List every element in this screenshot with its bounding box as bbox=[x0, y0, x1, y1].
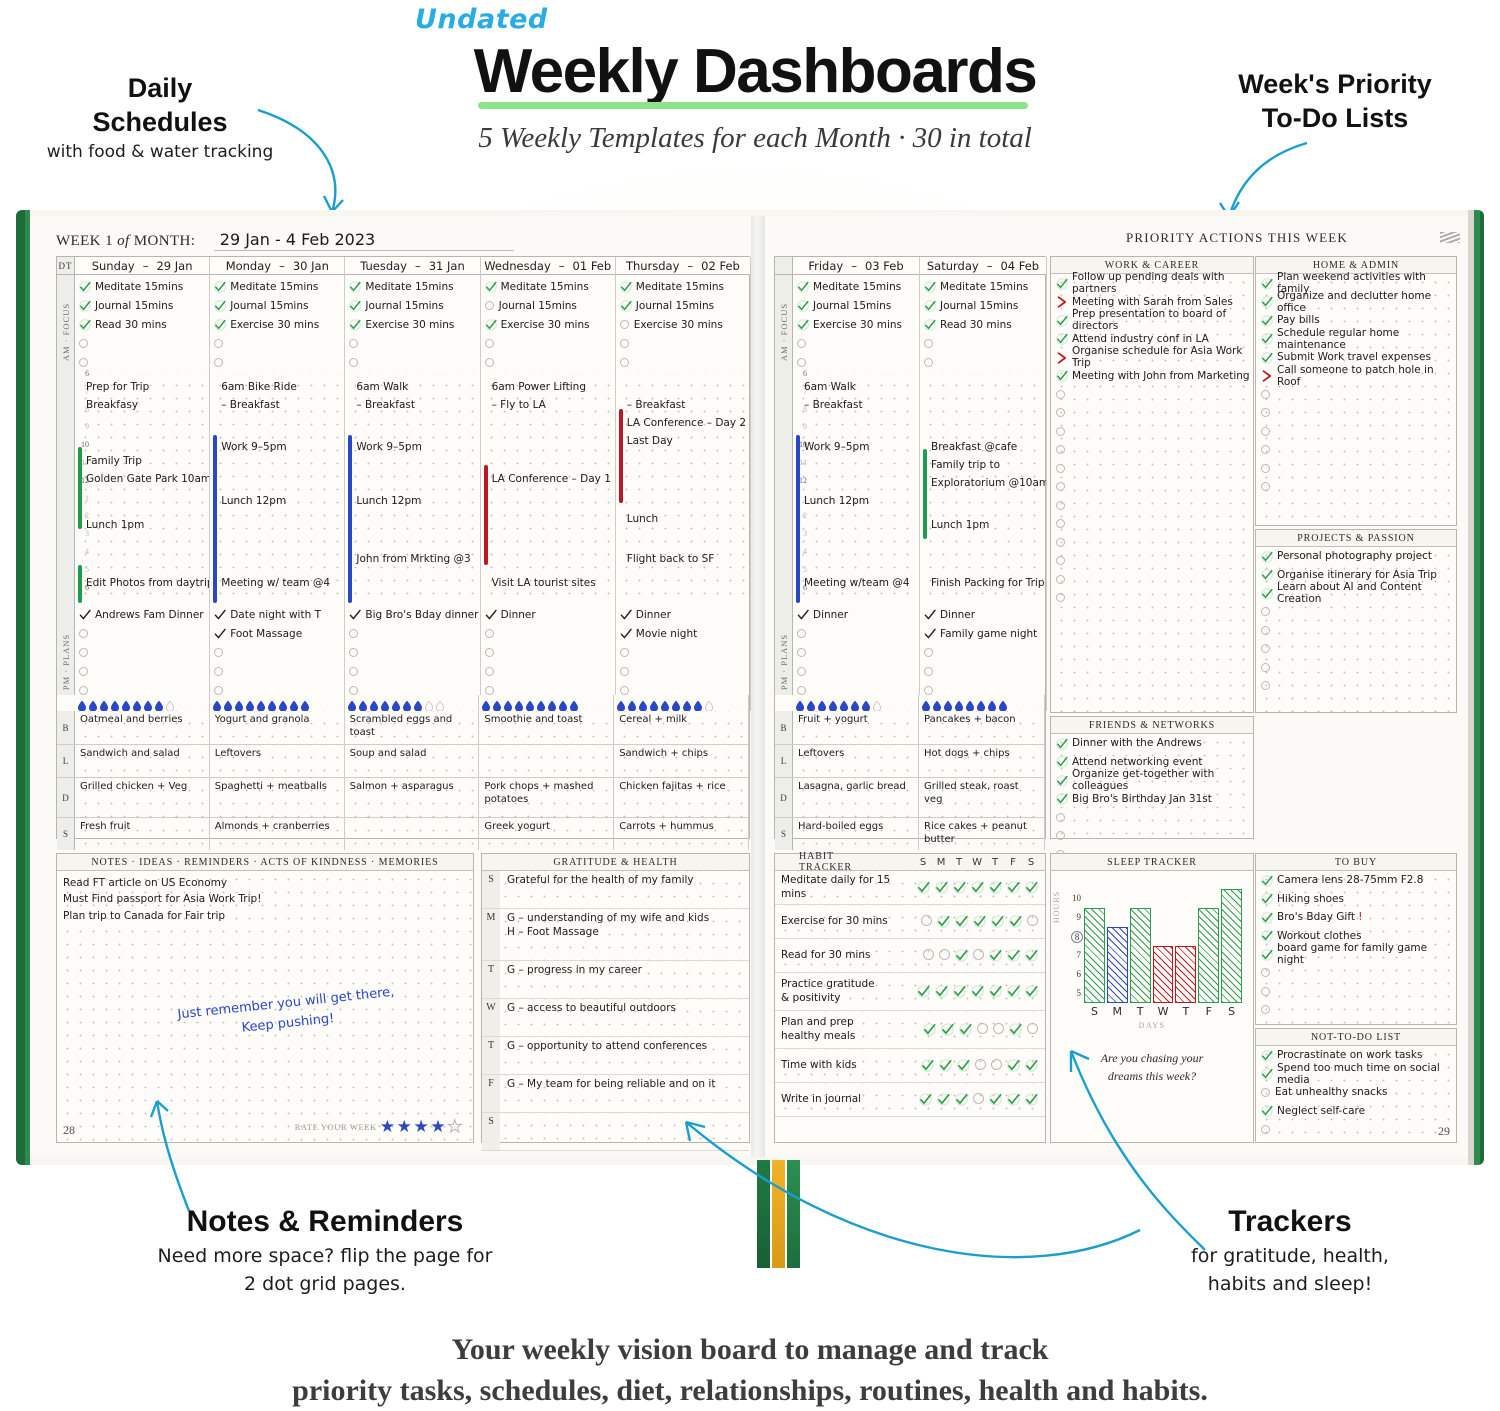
habit-check-icon[interactable] bbox=[1007, 985, 1020, 998]
priority-item[interactable]: Learn about AI and Content Creation bbox=[1256, 584, 1456, 603]
focus-task[interactable] bbox=[210, 334, 344, 353]
water-drop-icon[interactable] bbox=[922, 698, 930, 708]
water-row[interactable] bbox=[793, 695, 919, 711]
meal-cell[interactable]: Carrots + hummus bbox=[614, 818, 749, 850]
empty-checkbox[interactable] bbox=[797, 358, 806, 367]
water-drop-icon[interactable] bbox=[493, 698, 501, 708]
empty-checkbox[interactable] bbox=[79, 686, 88, 695]
habit-check-icon[interactable] bbox=[1007, 949, 1020, 962]
notes-panel[interactable]: NOTES · IDEAS · REMINDERS · ACTS OF KIND… bbox=[56, 853, 474, 1143]
priority-item[interactable]: Meeting with John from Marketing bbox=[1051, 367, 1253, 386]
meal-cell[interactable]: Chicken fajitas + rice bbox=[614, 778, 749, 817]
check-icon[interactable] bbox=[924, 628, 935, 639]
habit-check-icon[interactable] bbox=[1009, 915, 1022, 928]
habit-marks[interactable] bbox=[921, 915, 1045, 928]
star-icon[interactable]: ★ bbox=[380, 1118, 396, 1135]
check-icon[interactable] bbox=[1261, 569, 1272, 580]
habit-check-icon[interactable] bbox=[937, 1093, 950, 1106]
focus-task[interactable]: Meditate 15mins bbox=[481, 277, 615, 296]
habit-check-icon[interactable] bbox=[939, 1059, 952, 1072]
check-icon[interactable] bbox=[1261, 551, 1272, 562]
water-drop-icon[interactable] bbox=[359, 698, 367, 708]
priority-item[interactable]: Dinner with the Andrews bbox=[1051, 734, 1253, 753]
empty-checkbox[interactable] bbox=[1056, 464, 1065, 473]
habit-marks[interactable] bbox=[919, 1093, 1045, 1106]
empty-checkbox[interactable] bbox=[1056, 445, 1065, 454]
empty-checkbox[interactable] bbox=[1261, 408, 1270, 417]
water-tracker-right[interactable] bbox=[793, 695, 1045, 711]
empty-checkbox[interactable] bbox=[1056, 427, 1065, 436]
pm-task[interactable] bbox=[75, 662, 209, 681]
water-drop-icon[interactable] bbox=[999, 698, 1007, 708]
day-schedule-area[interactable]: 6am Walk– BreakfastWork 9–5pmLunch 12pmM… bbox=[793, 373, 919, 605]
schedule-event[interactable]: Meeting w/team @4 bbox=[804, 577, 910, 589]
empty-checkbox[interactable] bbox=[79, 629, 88, 638]
priority-item[interactable]: Camera lens 28-75mm F2.8 bbox=[1256, 871, 1456, 890]
empty-checkbox[interactable] bbox=[349, 686, 358, 695]
gratitude-panel[interactable]: GRATITUDE & HEALTH SGrateful for the hea… bbox=[481, 853, 750, 1143]
water-row[interactable] bbox=[345, 695, 480, 711]
habit-empty-icon[interactable] bbox=[923, 949, 934, 960]
check-icon[interactable] bbox=[214, 609, 225, 620]
habit-row[interactable]: Practice gratitude& positivity bbox=[775, 973, 1045, 1011]
pm-plans-list[interactable]: Dinner bbox=[793, 605, 919, 700]
focus-task[interactable] bbox=[345, 334, 479, 353]
empty-checkbox[interactable] bbox=[620, 686, 629, 695]
priority-item[interactable]: Call someone to patch hole in Roof bbox=[1256, 367, 1456, 386]
habit-check-icon[interactable] bbox=[959, 1023, 972, 1036]
water-drop-icon[interactable] bbox=[955, 698, 963, 708]
check-icon[interactable] bbox=[79, 609, 90, 620]
focus-task[interactable]: Journal 15mins bbox=[345, 296, 479, 315]
schedule-event[interactable]: – Breakfast bbox=[627, 399, 686, 411]
water-drop-icon[interactable] bbox=[213, 698, 221, 708]
check-icon[interactable] bbox=[924, 319, 935, 330]
schedule-event[interactable]: Finish Packing for Trip bbox=[931, 577, 1045, 589]
water-row[interactable] bbox=[210, 695, 345, 711]
focus-task[interactable]: Journal 15mins bbox=[210, 296, 344, 315]
empty-checkbox[interactable] bbox=[1056, 501, 1065, 510]
empty-checkbox[interactable] bbox=[1056, 482, 1065, 491]
empty-checkbox[interactable] bbox=[797, 667, 806, 676]
water-drop-icon[interactable] bbox=[504, 698, 512, 708]
focus-task[interactable]: Meditate 15mins bbox=[920, 277, 1046, 296]
check-icon[interactable] bbox=[924, 281, 935, 292]
water-tracker-left[interactable] bbox=[75, 695, 749, 711]
meal-cell[interactable]: Oatmeal and berries bbox=[75, 711, 210, 744]
habit-check-icon[interactable] bbox=[919, 1093, 932, 1106]
priority-item-empty[interactable] bbox=[1051, 533, 1253, 552]
priority-item-empty[interactable] bbox=[1256, 459, 1456, 478]
meal-cell[interactable]: Almonds + cranberries bbox=[210, 818, 345, 850]
habit-check-icon[interactable] bbox=[1007, 881, 1020, 894]
empty-checkbox[interactable] bbox=[349, 358, 358, 367]
empty-checkbox[interactable] bbox=[1056, 593, 1065, 602]
check-icon[interactable] bbox=[797, 281, 808, 292]
empty-checkbox[interactable] bbox=[620, 320, 629, 329]
check-icon[interactable] bbox=[214, 628, 225, 639]
schedule-event[interactable]: Lunch 12pm bbox=[356, 495, 421, 507]
empty-checkbox[interactable] bbox=[349, 629, 358, 638]
pm-task[interactable]: Andrews Fam Dinner bbox=[75, 605, 209, 624]
empty-checkbox[interactable] bbox=[349, 648, 358, 657]
pm-task[interactable] bbox=[210, 643, 344, 662]
habit-check-icon[interactable] bbox=[941, 1023, 954, 1036]
empty-checkbox[interactable] bbox=[797, 629, 806, 638]
water-drop-icon[interactable] bbox=[122, 698, 130, 708]
habit-row[interactable]: Time with kids bbox=[775, 1049, 1045, 1083]
date-range-field[interactable]: 29 Jan - 4 Feb 2023 bbox=[214, 230, 514, 251]
day-schedule-area[interactable]: Prep for TripBreakfasyFamily TripGolden … bbox=[75, 373, 209, 605]
water-drop-icon[interactable] bbox=[548, 698, 556, 708]
am-focus-list[interactable]: Meditate 15minsJournal 15minsExercise 30… bbox=[616, 275, 750, 372]
focus-task[interactable] bbox=[616, 353, 750, 372]
water-drop-icon[interactable] bbox=[988, 698, 996, 708]
note-line[interactable]: Read FT article on US Economy bbox=[63, 875, 473, 891]
habit-marks[interactable] bbox=[917, 881, 1045, 894]
focus-task[interactable]: Exercise 30 mins bbox=[345, 315, 479, 334]
check-icon[interactable] bbox=[1261, 296, 1272, 307]
check-icon[interactable] bbox=[79, 319, 90, 330]
pm-task[interactable] bbox=[616, 643, 750, 662]
water-drop-icon[interactable] bbox=[279, 698, 287, 708]
meal-cell[interactable] bbox=[345, 818, 480, 850]
empty-checkbox[interactable] bbox=[924, 648, 933, 657]
pm-task[interactable] bbox=[481, 624, 615, 643]
water-drop-icon[interactable] bbox=[526, 698, 534, 708]
check-icon[interactable] bbox=[1056, 756, 1067, 767]
pm-task[interactable] bbox=[345, 643, 479, 662]
empty-checkbox[interactable] bbox=[620, 358, 629, 367]
water-drop-icon[interactable] bbox=[829, 698, 837, 708]
priority-item-empty[interactable] bbox=[1051, 570, 1253, 589]
schedule-event[interactable]: Family trip to bbox=[931, 459, 1000, 471]
pm-task[interactable]: Family game night bbox=[920, 624, 1046, 643]
check-icon[interactable] bbox=[1261, 278, 1272, 289]
note-line[interactable]: Plan trip to Canada for Fair trip bbox=[63, 908, 473, 924]
pm-plans-list[interactable]: Dinner bbox=[481, 605, 615, 700]
meal-cell[interactable]: Pancakes + bacon bbox=[919, 711, 1045, 744]
meal-cell[interactable]: Salmon + asparagus bbox=[345, 778, 480, 817]
empty-checkbox[interactable] bbox=[485, 301, 494, 310]
habit-check-icon[interactable] bbox=[957, 1059, 970, 1072]
water-drop-icon[interactable] bbox=[683, 698, 691, 708]
check-icon[interactable] bbox=[620, 300, 631, 311]
check-icon[interactable] bbox=[1056, 278, 1067, 289]
empty-checkbox[interactable] bbox=[924, 667, 933, 676]
habit-row[interactable]: Read for 30 mins bbox=[775, 939, 1045, 973]
water-drop-icon[interactable] bbox=[381, 698, 389, 708]
pm-plans-list[interactable]: Big Bro's Bday dinner bbox=[345, 605, 479, 700]
check-icon[interactable] bbox=[1261, 949, 1272, 960]
focus-task[interactable]: Journal 15mins bbox=[75, 296, 209, 315]
water-row[interactable] bbox=[479, 695, 614, 711]
pm-task[interactable]: Date night with T bbox=[210, 605, 344, 624]
water-drop-icon[interactable] bbox=[482, 698, 490, 708]
pm-task[interactable]: Dinner bbox=[481, 605, 615, 624]
am-focus-list[interactable]: Meditate 15minsJournal 15minsRead 30 min… bbox=[75, 275, 209, 372]
focus-task[interactable]: Exercise 30 mins bbox=[481, 315, 615, 334]
water-drop-icon[interactable] bbox=[639, 698, 647, 708]
habit-row[interactable]: Write in journal bbox=[775, 1083, 1045, 1117]
check-icon[interactable] bbox=[620, 609, 631, 620]
day-schedule-area[interactable]: 6am Bike Ride– BreakfastWork 9–5pmLunch … bbox=[210, 373, 344, 605]
empty-checkbox[interactable] bbox=[1261, 1005, 1270, 1014]
meal-cell[interactable]: Spaghetti + meatballs bbox=[210, 778, 345, 817]
gratitude-text[interactable]: G – progress in my career bbox=[507, 964, 642, 978]
schedule-event[interactable]: Meeting w/ team @4 bbox=[221, 577, 330, 589]
meal-cell[interactable]: Fresh fruit bbox=[75, 818, 210, 850]
pm-plans-list[interactable]: DinnerFamily game night bbox=[920, 605, 1046, 700]
habit-check-icon[interactable] bbox=[989, 1093, 1002, 1106]
water-drop-icon[interactable] bbox=[166, 698, 174, 708]
focus-task[interactable]: Read 30 mins bbox=[75, 315, 209, 334]
empty-checkbox[interactable] bbox=[797, 686, 806, 695]
gratitude-text[interactable]: G – understanding of my wife and kids bbox=[507, 912, 709, 926]
meal-cell[interactable]: Sandwich and salad bbox=[75, 745, 210, 777]
schedule-event[interactable]: 6am Walk bbox=[804, 381, 856, 393]
water-drop-icon[interactable] bbox=[403, 698, 411, 708]
water-drop-icon[interactable] bbox=[301, 698, 309, 708]
empty-checkbox[interactable] bbox=[485, 629, 494, 638]
empty-checkbox[interactable] bbox=[485, 686, 494, 695]
check-icon[interactable] bbox=[797, 319, 808, 330]
schedule-event[interactable]: Work 9–5pm bbox=[221, 441, 286, 453]
meal-cell[interactable]: Sandwich + chips bbox=[614, 745, 749, 777]
priority-item[interactable] bbox=[1051, 385, 1253, 404]
focus-task[interactable] bbox=[481, 353, 615, 372]
priority-friends-panel[interactable]: FRIENDS & NETWORKS Dinner with the Andre… bbox=[1050, 716, 1254, 839]
priority-item-empty[interactable] bbox=[1051, 552, 1253, 571]
water-drop-icon[interactable] bbox=[257, 698, 265, 708]
not-to-do-items[interactable]: Procrastinate on work tasksSpend too muc… bbox=[1256, 1046, 1456, 1139]
empty-checkbox[interactable] bbox=[79, 667, 88, 676]
pm-task[interactable] bbox=[920, 662, 1046, 681]
habit-check-icon[interactable] bbox=[1025, 881, 1038, 894]
schedule-event[interactable]: Visit LA tourist sites bbox=[492, 577, 596, 589]
empty-checkbox[interactable] bbox=[797, 339, 806, 348]
schedule-event[interactable]: John from Mrkting @3 bbox=[356, 553, 470, 565]
habit-check-icon[interactable] bbox=[1025, 1059, 1038, 1072]
gratitude-text[interactable]: G – access to beautiful outdoors bbox=[507, 1002, 676, 1016]
pm-task[interactable] bbox=[210, 662, 344, 681]
water-drop-icon[interactable] bbox=[414, 698, 422, 708]
priority-item[interactable]: Personal photography project bbox=[1256, 547, 1456, 566]
empty-checkbox[interactable] bbox=[485, 648, 494, 657]
gratitude-row[interactable]: FG – My team for being reliable and on i… bbox=[482, 1075, 749, 1113]
gratitude-row[interactable]: MG – understanding of my wife and kidsH … bbox=[482, 909, 749, 961]
focus-task[interactable]: Meditate 15mins bbox=[345, 277, 479, 296]
water-drop-icon[interactable] bbox=[89, 698, 97, 708]
habit-empty-icon[interactable] bbox=[991, 1059, 1002, 1070]
water-row[interactable] bbox=[75, 695, 210, 711]
water-drop-icon[interactable] bbox=[705, 698, 713, 708]
star-icon[interactable]: ★ bbox=[430, 1118, 446, 1135]
check-icon[interactable] bbox=[214, 319, 225, 330]
empty-checkbox[interactable] bbox=[79, 358, 88, 367]
check-icon[interactable] bbox=[349, 300, 360, 311]
schedule-event[interactable]: Flight back to SF bbox=[627, 553, 715, 565]
habit-check-icon[interactable] bbox=[1007, 1059, 1020, 1072]
gratitude-rows[interactable]: SGrateful for the health of my familyMG … bbox=[482, 871, 749, 1151]
habit-check-icon[interactable] bbox=[1025, 1093, 1038, 1106]
empty-checkbox[interactable] bbox=[214, 648, 223, 657]
gratitude-lines[interactable] bbox=[500, 1113, 507, 1150]
sleep-tracker-panel[interactable]: SLEEP TRACKER HOURS 1098765 SMTWTFS DAYS… bbox=[1050, 853, 1254, 1143]
meal-cell[interactable]: Scrambled eggs and toast bbox=[345, 711, 480, 744]
priority-item[interactable] bbox=[1051, 808, 1253, 827]
focus-task[interactable] bbox=[616, 334, 750, 353]
pm-task[interactable] bbox=[345, 662, 479, 681]
pm-plans-list[interactable]: Date night with TFoot Massage bbox=[210, 605, 344, 700]
priority-item[interactable]: Schedule regular home maintenance bbox=[1256, 330, 1456, 349]
check-icon[interactable] bbox=[1261, 930, 1272, 941]
empty-checkbox[interactable] bbox=[620, 648, 629, 657]
schedule-event[interactable]: – Breakfast bbox=[221, 399, 280, 411]
habit-rows[interactable]: Meditate daily for 15 minsExercise for 3… bbox=[775, 871, 1045, 1117]
am-focus-list[interactable]: Meditate 15minsJournal 15minsExercise 30… bbox=[210, 275, 344, 372]
star-icon[interactable]: ★ bbox=[413, 1118, 429, 1135]
check-icon[interactable] bbox=[924, 609, 935, 620]
day-schedule-area[interactable]: – BreakfastLA Conference – Day 2Last Day… bbox=[616, 373, 750, 605]
schedule-event[interactable]: Exploratorium @10am bbox=[931, 477, 1047, 489]
habit-check-icon[interactable] bbox=[989, 985, 1002, 998]
check-icon[interactable] bbox=[1056, 775, 1067, 786]
pm-task[interactable] bbox=[793, 662, 919, 681]
check-icon[interactable] bbox=[1056, 333, 1067, 344]
priority-item[interactable] bbox=[1256, 982, 1456, 1001]
priority-item[interactable] bbox=[1256, 964, 1456, 983]
focus-task[interactable] bbox=[345, 353, 479, 372]
empty-checkbox[interactable] bbox=[1261, 644, 1270, 653]
habit-check-icon[interactable] bbox=[973, 915, 986, 928]
water-drop-icon[interactable] bbox=[862, 698, 870, 708]
priority-item[interactable]: Spend too much time on social media bbox=[1256, 1065, 1456, 1084]
water-drop-icon[interactable] bbox=[155, 698, 163, 708]
priority-item-empty[interactable] bbox=[1051, 496, 1253, 515]
water-drop-icon[interactable] bbox=[144, 698, 152, 708]
pm-task[interactable]: Dinner bbox=[920, 605, 1046, 624]
water-drop-icon[interactable] bbox=[650, 698, 658, 708]
am-focus-list[interactable]: Meditate 15minsJournal 15minsExercise 30… bbox=[481, 275, 615, 372]
schedule-event[interactable]: 6am Walk bbox=[356, 381, 408, 393]
check-icon[interactable] bbox=[620, 281, 631, 292]
empty-checkbox[interactable] bbox=[485, 667, 494, 676]
habit-check-icon[interactable] bbox=[953, 985, 966, 998]
water-drop-icon[interactable] bbox=[807, 698, 815, 708]
gratitude-row[interactable]: WG – access to beautiful outdoors bbox=[482, 999, 749, 1037]
water-drop-icon[interactable] bbox=[570, 698, 578, 708]
focus-task[interactable]: Read 30 mins bbox=[920, 315, 1046, 334]
empty-checkbox[interactable] bbox=[1261, 968, 1270, 977]
check-icon[interactable] bbox=[620, 628, 631, 639]
habit-check-icon[interactable] bbox=[971, 985, 984, 998]
priority-item[interactable]: Follow up pending deals with partners bbox=[1051, 274, 1253, 293]
pm-task[interactable]: Movie night bbox=[616, 624, 750, 643]
priority-item-empty[interactable] bbox=[1051, 404, 1253, 423]
empty-checkbox[interactable] bbox=[1261, 427, 1270, 436]
water-drop-icon[interactable] bbox=[100, 698, 108, 708]
habit-check-icon[interactable] bbox=[921, 1059, 934, 1072]
schedule-event[interactable]: Lunch 12pm bbox=[804, 495, 869, 507]
priority-item-empty[interactable] bbox=[1051, 459, 1253, 478]
pm-task[interactable] bbox=[481, 643, 615, 662]
meal-cell[interactable]: Lasagna, garlic bread bbox=[793, 778, 919, 817]
empty-checkbox[interactable] bbox=[485, 358, 494, 367]
habit-check-icon[interactable] bbox=[937, 915, 950, 928]
water-row[interactable] bbox=[919, 695, 1045, 711]
priority-item[interactable]: Hiking shoes bbox=[1256, 890, 1456, 909]
home-admin-items[interactable]: Plan weekend activities with familyOrgan… bbox=[1256, 274, 1456, 496]
empty-checkbox[interactable] bbox=[1056, 556, 1065, 565]
habit-check-icon[interactable] bbox=[955, 915, 968, 928]
habit-row[interactable]: Plan and prephealthy meals bbox=[775, 1011, 1045, 1049]
focus-task[interactable] bbox=[481, 334, 615, 353]
water-drop-icon[interactable] bbox=[559, 698, 567, 708]
empty-checkbox[interactable] bbox=[1056, 813, 1065, 822]
habit-tracker-panel[interactable]: HABIT TRACKER SMTWTFS Meditate daily for… bbox=[774, 853, 1046, 1143]
gratitude-lines[interactable]: G – understanding of my wife and kidsH –… bbox=[500, 909, 709, 960]
focus-task[interactable]: Meditate 15mins bbox=[75, 277, 209, 296]
check-icon[interactable] bbox=[349, 281, 360, 292]
priority-item[interactable] bbox=[1256, 1120, 1456, 1139]
meal-cell[interactable]: Greek yogurt bbox=[479, 818, 614, 850]
meal-cell[interactable]: Rice cakes + peanut butter bbox=[919, 818, 1045, 850]
priority-item[interactable]: Big Bro's Birthday Jan 31st bbox=[1051, 790, 1253, 809]
water-drop-icon[interactable] bbox=[966, 698, 974, 708]
note-line[interactable]: Must Find passport for Asia Work Trip! bbox=[63, 891, 473, 907]
priority-item-empty[interactable] bbox=[1051, 827, 1253, 846]
water-drop-icon[interactable] bbox=[515, 698, 523, 708]
habit-check-icon[interactable] bbox=[1007, 1093, 1020, 1106]
gratitude-text[interactable]: Grateful for the health of my family bbox=[507, 874, 694, 888]
empty-checkbox[interactable] bbox=[214, 667, 223, 676]
habit-row[interactable]: Meditate daily for 15 mins bbox=[775, 871, 1045, 905]
star-icon[interactable]: ★ bbox=[397, 1118, 413, 1135]
am-focus-list[interactable]: Meditate 15minsJournal 15minsRead 30 min… bbox=[920, 275, 1046, 372]
meal-cell[interactable] bbox=[479, 745, 614, 777]
empty-checkbox[interactable] bbox=[1261, 663, 1270, 672]
water-drop-icon[interactable] bbox=[370, 698, 378, 708]
habit-empty-icon[interactable] bbox=[975, 1059, 986, 1070]
check-icon[interactable] bbox=[797, 609, 808, 620]
empty-checkbox[interactable] bbox=[797, 648, 806, 657]
star-icon[interactable]: ★ bbox=[447, 1118, 463, 1135]
schedule-event[interactable]: Family Trip bbox=[86, 455, 142, 467]
habit-check-icon[interactable] bbox=[955, 1093, 968, 1106]
focus-task[interactable] bbox=[793, 334, 919, 353]
check-icon[interactable] bbox=[79, 300, 90, 311]
pm-task[interactable] bbox=[75, 624, 209, 643]
day-schedule-area[interactable]: Breakfast @cafeFamily trip toExploratori… bbox=[920, 373, 1046, 605]
schedule-event[interactable]: – Fly to LA bbox=[492, 399, 546, 411]
check-icon[interactable] bbox=[797, 300, 808, 311]
meal-cell[interactable]: Hard-boiled eggs bbox=[793, 818, 919, 850]
habit-empty-icon[interactable] bbox=[1027, 1023, 1038, 1034]
check-icon[interactable] bbox=[1056, 315, 1067, 326]
pm-task[interactable] bbox=[920, 643, 1046, 662]
empty-checkbox[interactable] bbox=[1261, 1125, 1270, 1134]
habit-row[interactable]: Exercise for 30 mins bbox=[775, 905, 1045, 939]
focus-task[interactable]: Exercise 30 mins bbox=[616, 315, 750, 334]
schedule-event[interactable]: Lunch 1pm bbox=[86, 519, 144, 531]
focus-task[interactable]: Exercise 30 mins bbox=[793, 315, 919, 334]
empty-checkbox[interactable] bbox=[924, 358, 933, 367]
check-icon[interactable] bbox=[1056, 370, 1067, 381]
focus-task[interactable]: Meditate 15mins bbox=[793, 277, 919, 296]
empty-checkbox[interactable] bbox=[1056, 390, 1065, 399]
check-icon[interactable] bbox=[349, 319, 360, 330]
